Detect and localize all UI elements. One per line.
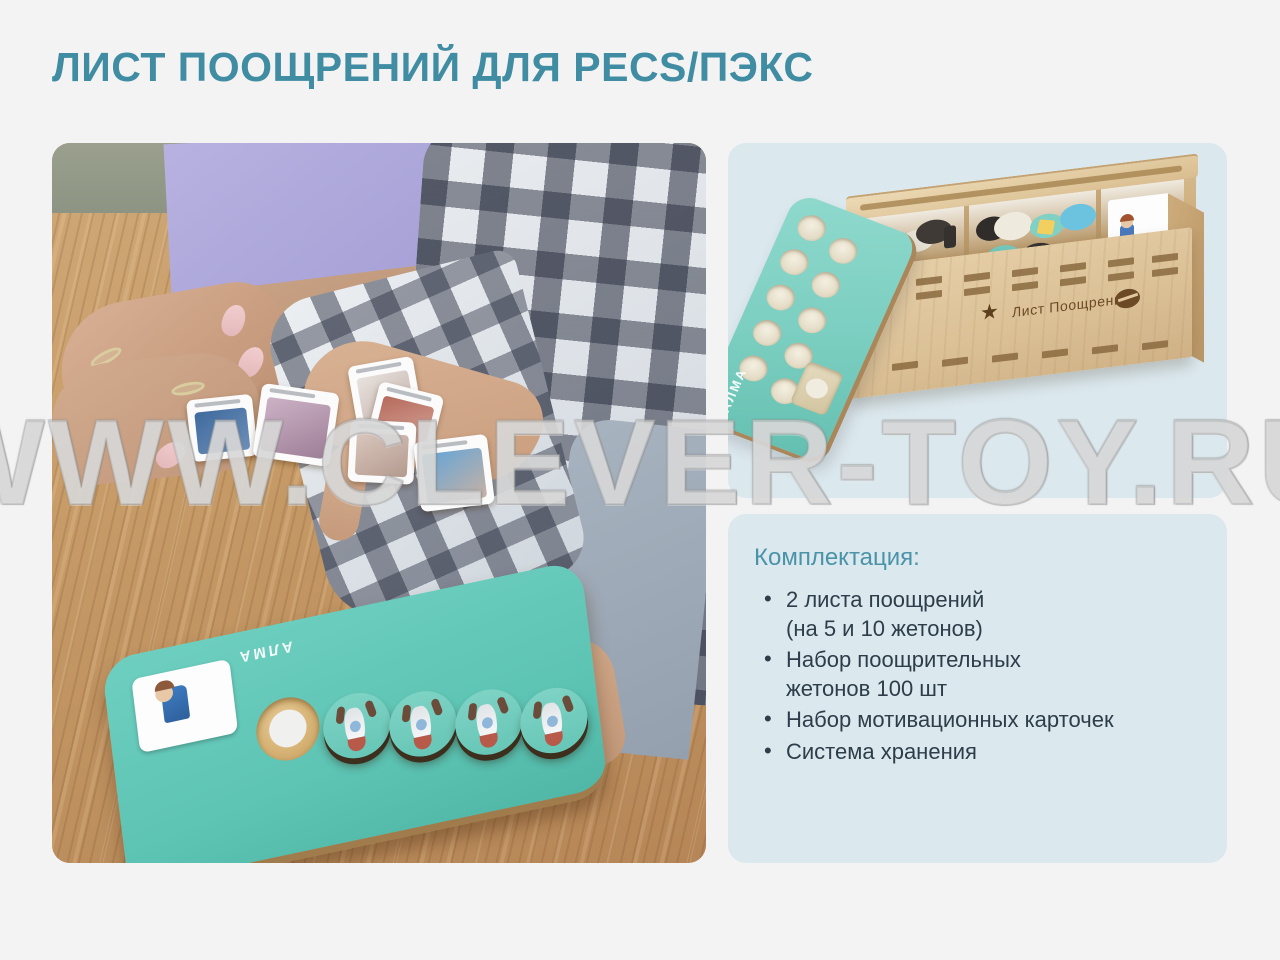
pecs-card — [186, 394, 258, 463]
pecs-card-caption — [358, 424, 404, 430]
list-item: Система хранения — [754, 738, 1197, 767]
token-hole — [793, 211, 830, 245]
reward-token — [320, 687, 394, 765]
finger-joint — [892, 361, 918, 371]
pecs-card-caption — [421, 440, 467, 450]
token-hole — [825, 234, 862, 268]
rocket-nose-icon — [347, 736, 366, 753]
product-render-panel: ★ Лист Поощрений АЛМА — [728, 143, 1227, 498]
ring — [170, 379, 206, 398]
star-icon — [1037, 219, 1056, 234]
list-item: Набор поощрительныхжетонов 100 шт — [754, 646, 1197, 703]
specs-heading: Комплектация: — [754, 544, 1197, 572]
finger-joint — [1152, 267, 1178, 277]
motivation-card-on-board — [131, 659, 238, 754]
token-hole — [749, 316, 786, 350]
finger-joint — [1108, 257, 1134, 267]
rocket-nose-icon — [545, 731, 564, 748]
pecs-card-caption — [269, 388, 315, 398]
fingernail — [218, 302, 250, 340]
token-planet — [1060, 202, 1096, 232]
rocket-fin-icon — [364, 699, 377, 718]
finger-joint — [1042, 348, 1068, 358]
finger-joint — [916, 276, 942, 286]
finger-joint — [1142, 340, 1168, 350]
finger-joint — [942, 357, 968, 367]
slot-inner — [267, 706, 309, 751]
token-hole — [794, 303, 831, 337]
finger-joint — [1060, 262, 1086, 272]
finger-joint — [992, 352, 1018, 362]
pecs-card-image — [260, 397, 331, 459]
pecs-card-image — [422, 448, 488, 505]
rocket-fin-icon — [430, 697, 443, 716]
token-hole — [776, 245, 813, 279]
rocket-nose-icon — [480, 733, 499, 750]
finger-joint — [1108, 271, 1134, 281]
finger-joint — [1012, 267, 1038, 277]
finger-joint — [1012, 281, 1038, 291]
board-brand-label: АЛМА — [236, 637, 294, 666]
page-title: ЛИСТ ПООЩРЕНИЙ ДЛЯ PECS/ПЭКС — [52, 44, 814, 91]
pecs-card-image — [355, 433, 409, 478]
product-photo-lifestyle: АЛМА — [52, 143, 706, 863]
reward-token — [452, 683, 526, 761]
finger-joint — [1152, 253, 1178, 263]
specs-list: 2 листа поощрений(на 5 и 10 жетонов) Наб… — [754, 586, 1197, 767]
reward-token — [386, 685, 460, 763]
finger-joint — [916, 290, 942, 300]
rocket-fin-icon — [496, 696, 509, 715]
finger-joint — [964, 286, 990, 296]
token-stack — [994, 210, 1032, 243]
specs-panel: Комплектация: 2 листа поощрений(на 5 и 1… — [728, 514, 1227, 863]
token-hole — [762, 281, 799, 315]
fingernail — [152, 436, 191, 473]
list-item: 2 листа поощрений(на 5 и 10 жетонов) — [754, 586, 1197, 643]
storage-box-illustration: ★ Лист Поощрений АЛМА — [728, 143, 1227, 498]
pecs-card-image — [194, 407, 250, 454]
reward-slot-empty — [253, 691, 323, 766]
pecs-card — [252, 383, 340, 467]
finger-joint — [1092, 344, 1118, 354]
finger-joint — [1060, 276, 1086, 286]
rocket-fin-icon — [561, 694, 574, 713]
list-item: Набор мотивационных карточек — [754, 706, 1197, 735]
star-icon: ★ — [980, 301, 999, 324]
finger-joint — [964, 272, 990, 282]
rocket-nose-icon — [414, 734, 433, 751]
pecs-card-caption — [194, 399, 240, 408]
pecs-card — [347, 419, 416, 484]
token-stack — [944, 225, 956, 248]
pecs-card — [413, 434, 495, 512]
box-engraving-label: Лист Поощрений — [1012, 290, 1131, 321]
reward-token — [517, 682, 591, 760]
token-hole — [807, 268, 844, 302]
sheet-brand-label: АЛМА — [728, 366, 750, 414]
